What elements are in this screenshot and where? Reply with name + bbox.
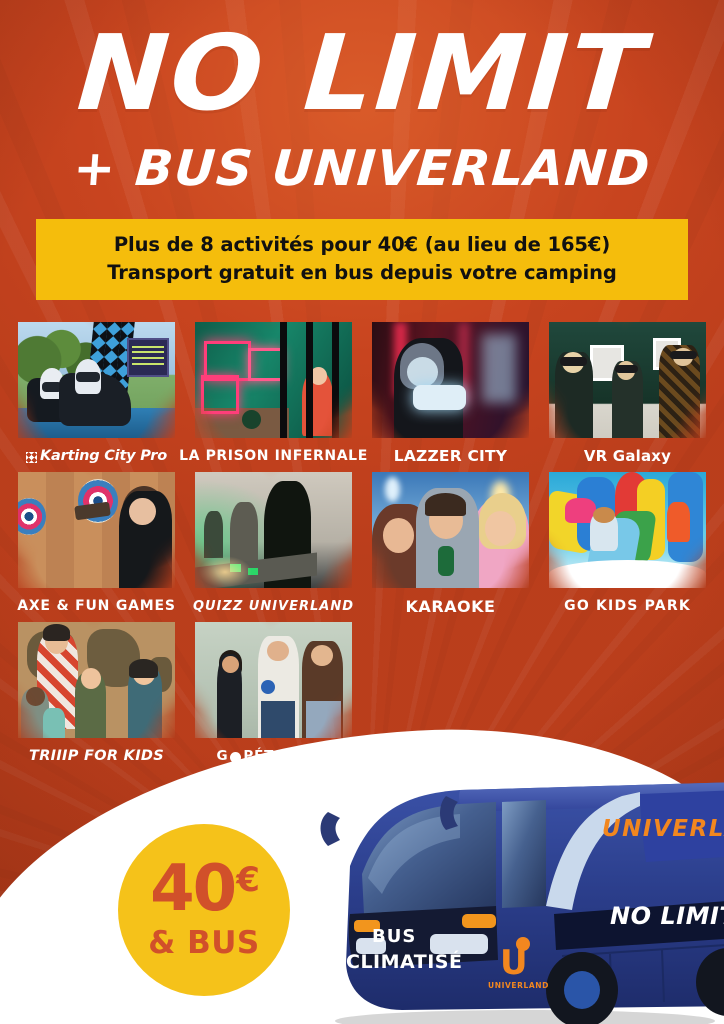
bus-svg: UNIVERLAND NO LIMIT BUS CLIMATISÉ U UNIV…	[310, 778, 724, 1024]
activity-label-karting: Karting City Pro	[26, 445, 167, 467]
activity-card-petanque[interactable]: G PÉTANQUE	[185, 622, 362, 767]
activity-row: TRIIIP FOR KIDS G PÉTANQUE	[8, 622, 716, 767]
activity-thumbnail-gokids	[549, 472, 706, 588]
bus-illustration: UNIVERLAND NO LIMIT BUS CLIMATISÉ U UNIV…	[310, 778, 724, 1024]
offer-banner-line-1: Plus de 8 activités pour 40€ (au lieu de…	[46, 231, 678, 259]
bus-logo-dot	[516, 937, 530, 951]
bus-headlight-right	[462, 914, 496, 928]
price-badge-suffix: & BUS	[148, 925, 259, 961]
bus-brand-text: UNIVERLAND	[602, 816, 724, 842]
bus-slogan-text: NO LIMIT	[610, 902, 724, 930]
bus-mirror-left	[321, 812, 341, 846]
activity-thumbnail-quizz	[195, 472, 352, 588]
offer-banner-line-2: Transport gratuit en bus depuis votre ca…	[46, 259, 678, 287]
promotional-poster: NO LIMIT + BUS UNIVERLAND Plus de 8 acti…	[0, 0, 724, 1024]
price-badge-amount: 40€	[150, 861, 258, 919]
activity-card-gokids[interactable]: GO KIDS PARK	[539, 472, 716, 617]
activity-thumbnail-karting	[18, 322, 175, 438]
activity-thumbnail-karaoke	[372, 472, 529, 588]
activity-thumbnail-triiip	[18, 622, 175, 738]
bus-door-glass	[502, 800, 546, 908]
bus-front-text-line1: BUS	[372, 926, 416, 947]
bus-front-text-line2: CLIMATISÉ	[346, 950, 462, 973]
activity-card-karaoke[interactable]: KARAOKE	[362, 472, 539, 617]
checkered-flag-icon	[26, 452, 37, 463]
activity-card-axe[interactable]: AXE & FUN GAMES	[8, 472, 185, 617]
activity-card-vr[interactable]: VR Galaxy	[539, 322, 716, 467]
activity-label-petanque: G PÉTANQUE	[217, 745, 331, 767]
page-subtitle: + BUS UNIVERLAND	[0, 144, 724, 193]
activity-card-lazzer[interactable]: LAZZER CITY	[362, 322, 539, 467]
bus-logo-caption: UNIVERLAND	[488, 981, 549, 990]
activity-label-axe: AXE & FUN GAMES	[17, 595, 176, 617]
bus-wheel-front-rim	[564, 971, 600, 1009]
activity-card-quizz[interactable]: QUIZZ UNIVERLAND	[185, 472, 362, 617]
activity-card-empty	[362, 622, 539, 767]
activity-thumbnail-lazzer	[372, 322, 529, 438]
activity-thumbnail-vr	[549, 322, 706, 438]
activity-card-empty	[539, 622, 716, 767]
page-title: NO LIMIT	[0, 26, 724, 122]
activity-label-vr: VR Galaxy	[584, 445, 671, 467]
bus-shadow	[335, 1010, 715, 1024]
price-badge-number: 40	[150, 861, 235, 919]
activity-card-karting[interactable]: Karting City Pro	[8, 322, 185, 467]
circle-ball-icon	[230, 752, 241, 763]
price-badge: 40€ & BUS	[118, 824, 290, 996]
headline-block: NO LIMIT + BUS UNIVERLAND	[0, 26, 724, 193]
activity-thumbnail-prison	[195, 322, 352, 438]
offer-banner: Plus de 8 activités pour 40€ (au lieu de…	[36, 219, 688, 300]
activity-grid: Karting City Pro LA PRISON INFERNALE	[8, 322, 716, 772]
activity-label-prison: LA PRISON INFERNALE	[179, 445, 368, 467]
activity-label-triiip: TRIIIP FOR KIDS	[29, 745, 164, 767]
activity-card-triiip[interactable]: TRIIIP FOR KIDS	[8, 622, 185, 767]
price-badge-currency: €	[236, 863, 258, 897]
activity-row: AXE & FUN GAMES QUIZZ UNIVERLAND	[8, 472, 716, 617]
activity-label-karaoke: KARAOKE	[406, 595, 496, 617]
activity-label-gokids: GO KIDS PARK	[564, 595, 691, 617]
activity-thumbnail-petanque	[195, 622, 352, 738]
activity-label-quizz: QUIZZ UNIVERLAND	[193, 595, 354, 617]
activity-row: Karting City Pro LA PRISON INFERNALE	[8, 322, 716, 467]
activity-label-prefix: G	[217, 748, 229, 764]
activity-card-prison[interactable]: LA PRISON INFERNALE	[185, 322, 362, 467]
activity-label-lazzer: LAZZER CITY	[394, 445, 507, 467]
activity-thumbnail-axe	[18, 472, 175, 588]
